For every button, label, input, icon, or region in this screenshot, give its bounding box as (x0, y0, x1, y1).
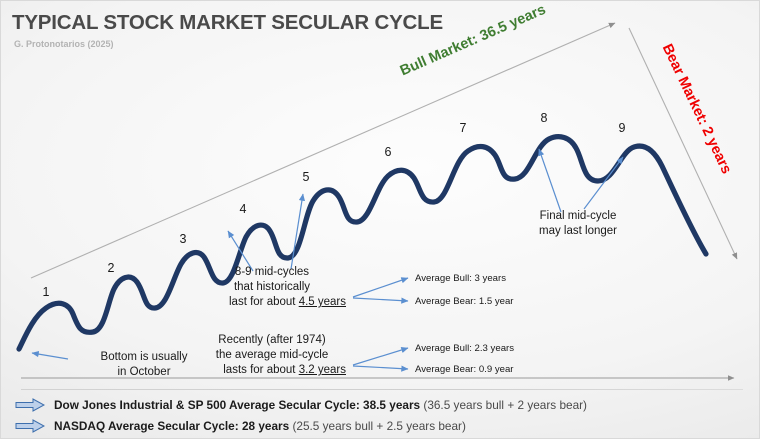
final-midcycle-arrow-a (539, 149, 561, 212)
secular-cycle-curve (19, 137, 706, 349)
midcycles-line3-prefix: last for about (229, 296, 299, 308)
peak-label-5: 5 (294, 170, 318, 184)
recent-line3-prefix: lasts for about (223, 364, 298, 376)
october-bottom-annotation: Bottom is usually in October (79, 350, 209, 380)
right-block-arrow-icon (15, 398, 45, 412)
recent-line3: lasts for about 3.2 years (206, 363, 346, 378)
recent-bear-arrow (353, 366, 408, 369)
recent-average-bear: Average Bear: 0.9 year (415, 364, 514, 375)
recent-duration: 3.2 years (299, 364, 346, 376)
peak-label-8: 8 (532, 111, 556, 125)
recent-average-bull: Average Bull: 2.3 years (415, 343, 514, 354)
recent-line2: the average mid-cycle (206, 348, 346, 363)
peak-label-9: 9 (610, 121, 634, 135)
legend-text-nasdaq: NASDAQ Average Secular Cycle: 28 years (… (54, 419, 466, 433)
historic-average-bull: Average Bull: 3 years (415, 273, 506, 284)
peak-label-6: 6 (376, 145, 400, 159)
legend-row-nasdaq: NASDAQ Average Secular Cycle: 28 years (… (15, 419, 466, 433)
midcycles-annotation: 8-9 mid-cycles that historically last fo… (206, 265, 346, 310)
peak-label-2: 2 (99, 261, 123, 275)
final-midcycle-arrow-b (584, 157, 623, 209)
legend-paren-nasdaq: (25.5 years bull + 2.5 years bear) (289, 419, 466, 433)
legend-bold-dow-sp500: Dow Jones Industrial & SP 500 Average Se… (54, 398, 420, 412)
slide-canvas: TYPICAL STOCK MARKET SECULAR CYCLE G. Pr… (0, 0, 760, 439)
final-midcycle-line1: Final mid-cycle (509, 209, 647, 224)
legend-paren-dow-sp500: (36.5 years bull + 2 years bear) (420, 398, 587, 412)
october-bottom-line2: in October (79, 365, 209, 380)
legend-bold-nasdaq: NASDAQ Average Secular Cycle: 28 years (54, 419, 289, 433)
historic-bull-arrow (353, 278, 408, 297)
final-midcycle-line2: may last longer (509, 224, 647, 239)
midcycles-line1: 8-9 mid-cycles (206, 265, 346, 280)
midcycles-line2: that historically (206, 280, 346, 295)
bull-trendline (31, 23, 615, 278)
historic-bear-arrow (353, 298, 408, 301)
legend-divider (21, 389, 743, 390)
recent-line1: Recently (after 1974) (206, 333, 346, 348)
peak-label-1: 1 (34, 285, 58, 299)
midcycles-line3: last for about 4.5 years (206, 295, 346, 310)
peak-label-4: 4 (231, 202, 255, 216)
recent-midcycle-annotation: Recently (after 1974) the average mid-cy… (206, 333, 346, 378)
legend-text-dow-sp500: Dow Jones Industrial & SP 500 Average Se… (54, 398, 587, 412)
october-bottom-arrow (32, 353, 68, 359)
peak-label-7: 7 (451, 121, 475, 135)
historic-average-bear: Average Bear: 1.5 year (415, 296, 514, 307)
recent-bull-arrow (353, 348, 408, 365)
right-block-arrow-icon (15, 419, 45, 433)
legend-row-dow-sp500: Dow Jones Industrial & SP 500 Average Se… (15, 398, 587, 412)
midcycles-duration: 4.5 years (299, 296, 346, 308)
legend: Dow Jones Industrial & SP 500 Average Se… (1, 389, 760, 439)
final-midcycle-annotation: Final mid-cycle may last longer (509, 209, 647, 239)
october-bottom-line1: Bottom is usually (79, 350, 209, 365)
peak-label-3: 3 (171, 232, 195, 246)
